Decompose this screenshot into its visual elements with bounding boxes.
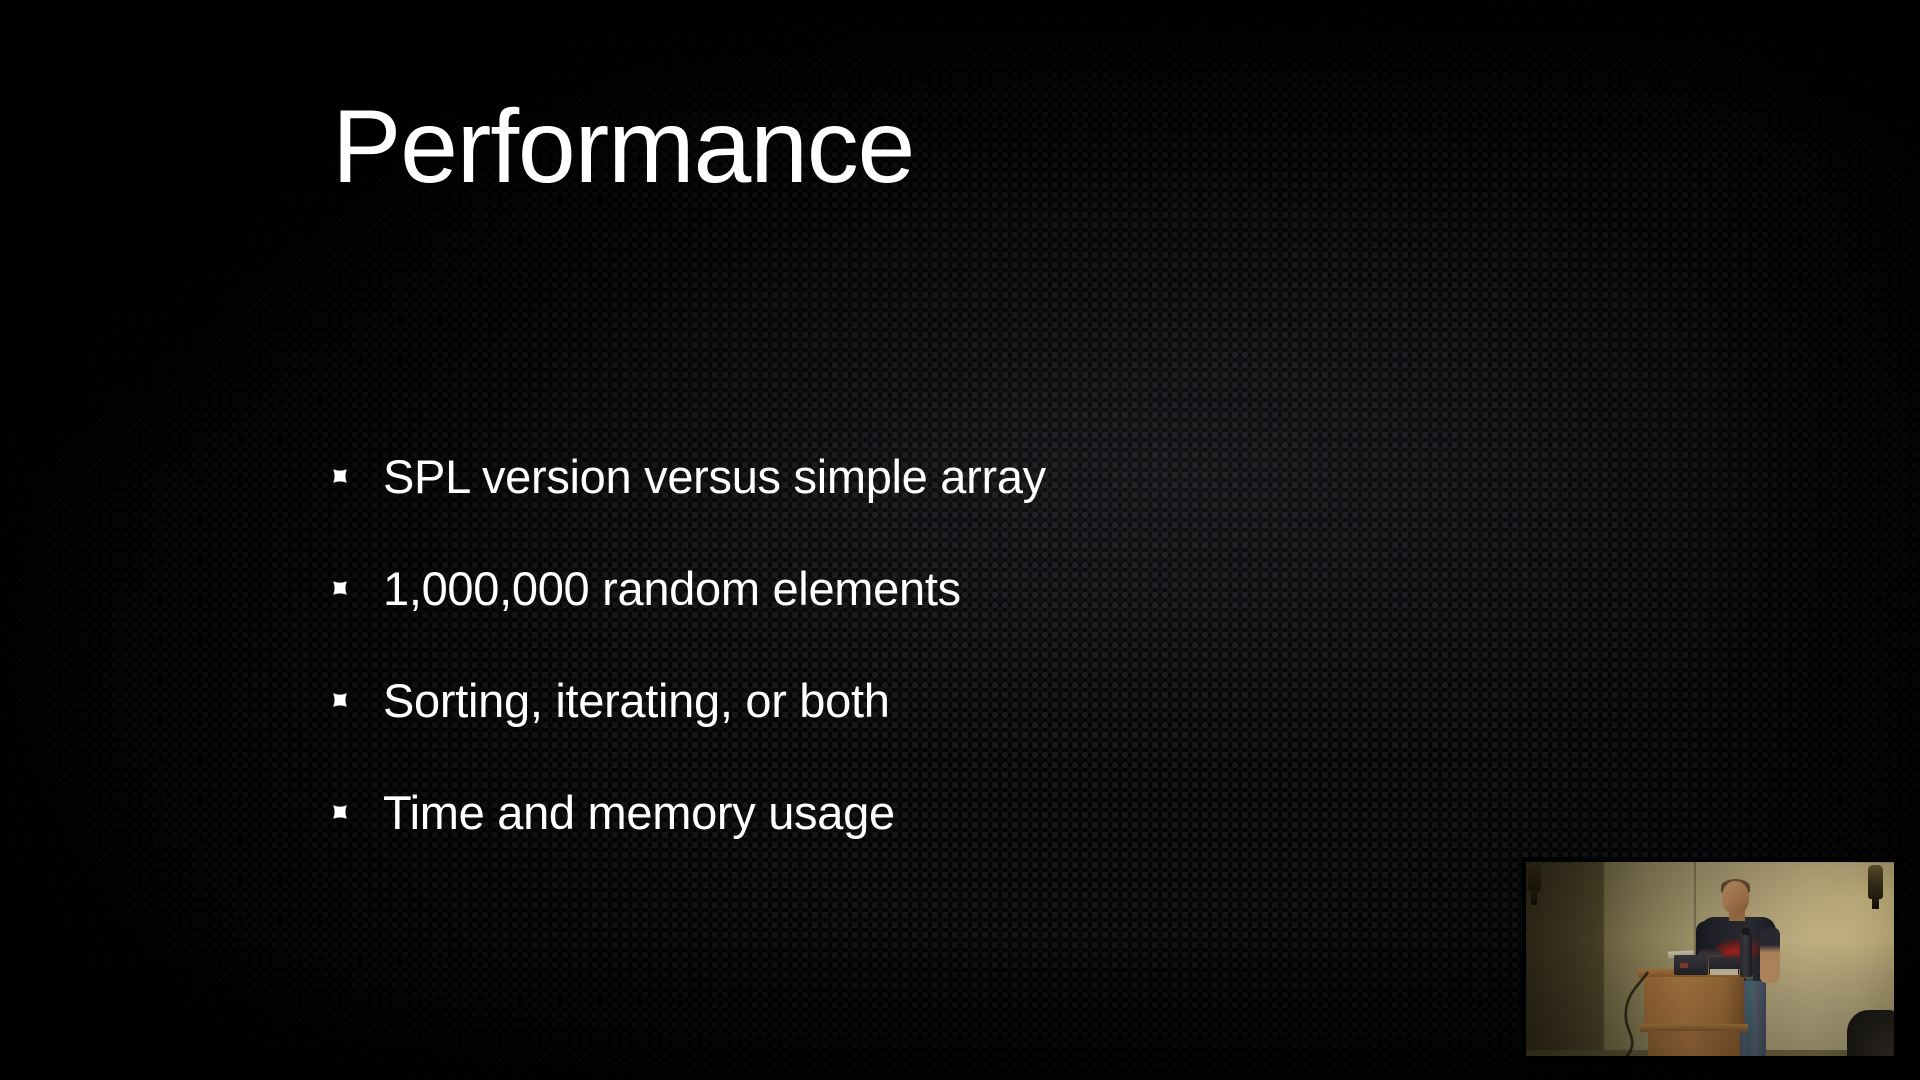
video-letterbox-top	[1522, 857, 1899, 862]
video-letterbox-left	[1522, 857, 1526, 1062]
presentation-slide: Performance SPL version versus simple ar…	[0, 0, 1920, 1080]
wall-sconce-right-icon	[1868, 865, 1883, 899]
video-scene	[1522, 857, 1899, 1062]
pinched-square-bullet-icon	[330, 802, 350, 822]
cable	[1618, 970, 1652, 1062]
bullet-item: 1,000,000 random elements	[330, 532, 1330, 644]
bullet-list: SPL version versus simple array 1,000,00…	[330, 420, 1330, 868]
laptop-indicator	[1680, 963, 1688, 968]
podium-side-object	[1746, 975, 1753, 1059]
wall-seam	[1602, 857, 1604, 1062]
pinched-square-bullet-icon	[330, 690, 350, 710]
slide-title: Performance	[332, 95, 914, 199]
water-bottle-cap	[1742, 928, 1750, 935]
presenter-video-inset[interactable]	[1522, 857, 1899, 1062]
presenter-arm-right	[1760, 927, 1780, 983]
water-bottle	[1740, 933, 1752, 977]
bullet-item: Time and memory usage	[330, 756, 1330, 868]
bullet-item-label: 1,000,000 random elements	[383, 565, 961, 612]
video-letterbox-right	[1894, 857, 1899, 1062]
video-letterbox-bottom	[1522, 1056, 1899, 1062]
presenter-head	[1722, 881, 1749, 914]
bullet-item: Sorting, iterating, or both	[330, 644, 1330, 756]
chair	[1847, 1010, 1899, 1062]
bullet-item-label: Sorting, iterating, or both	[383, 677, 890, 724]
bullet-item-label: Time and memory usage	[383, 789, 895, 836]
equipment-label	[1710, 969, 1738, 975]
bullet-item: SPL version versus simple array	[330, 420, 1330, 532]
pinched-square-bullet-icon	[330, 578, 350, 598]
pinched-square-bullet-icon	[330, 466, 350, 486]
wall-sconce-left-icon	[1528, 863, 1541, 893]
bullet-item-label: SPL version versus simple array	[383, 453, 1046, 500]
podium-body	[1644, 977, 1744, 1029]
